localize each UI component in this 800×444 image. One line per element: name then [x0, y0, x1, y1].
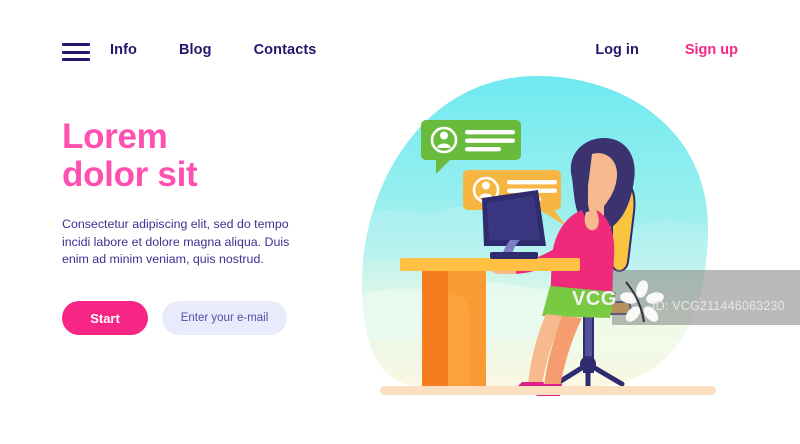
- hamburger-bar-1: [62, 43, 90, 46]
- landing-page: Info Blog Contacts Log in Sign up Lorem …: [0, 0, 800, 444]
- email-input[interactable]: [162, 301, 287, 335]
- hero-title-line-2: dolor sit: [62, 156, 362, 194]
- hero-actions: Start: [62, 301, 287, 335]
- start-button[interactable]: Start: [62, 301, 148, 335]
- hero-illustration: [360, 70, 740, 410]
- desk-leg-highlight: [448, 292, 470, 386]
- bubble-text-line: [465, 130, 515, 134]
- hamburger-bar-2: [62, 51, 90, 54]
- bubble-text-line: [507, 180, 557, 184]
- desk-top: [400, 258, 580, 271]
- nav-links: Info Blog Contacts: [110, 42, 316, 58]
- nav-link-contacts[interactable]: Contacts: [254, 42, 317, 58]
- bubble-text-line: [465, 147, 501, 151]
- bubble-text-line: [465, 139, 515, 143]
- monitor-base: [490, 252, 538, 259]
- nav-link-info[interactable]: Info: [110, 42, 137, 58]
- monitor-screen-inner: [487, 196, 540, 240]
- hamburger-bar-3: [62, 58, 90, 61]
- page-title: Lorem dolor sit: [62, 118, 362, 194]
- nav-auth-actions: Log in Sign up: [595, 42, 738, 58]
- login-link[interactable]: Log in: [595, 42, 639, 58]
- nav-link-blog[interactable]: Blog: [179, 42, 212, 58]
- hero-paragraph: Consectetur adipiscing elit, sed do temp…: [62, 216, 302, 269]
- signup-link[interactable]: Sign up: [685, 42, 738, 58]
- hamburger-menu-icon[interactable]: [62, 43, 90, 61]
- hero-copy-block: Lorem dolor sit Consectetur adipiscing e…: [62, 118, 362, 269]
- hero-title-line-1: Lorem: [62, 117, 167, 156]
- floor-line: [380, 386, 716, 395]
